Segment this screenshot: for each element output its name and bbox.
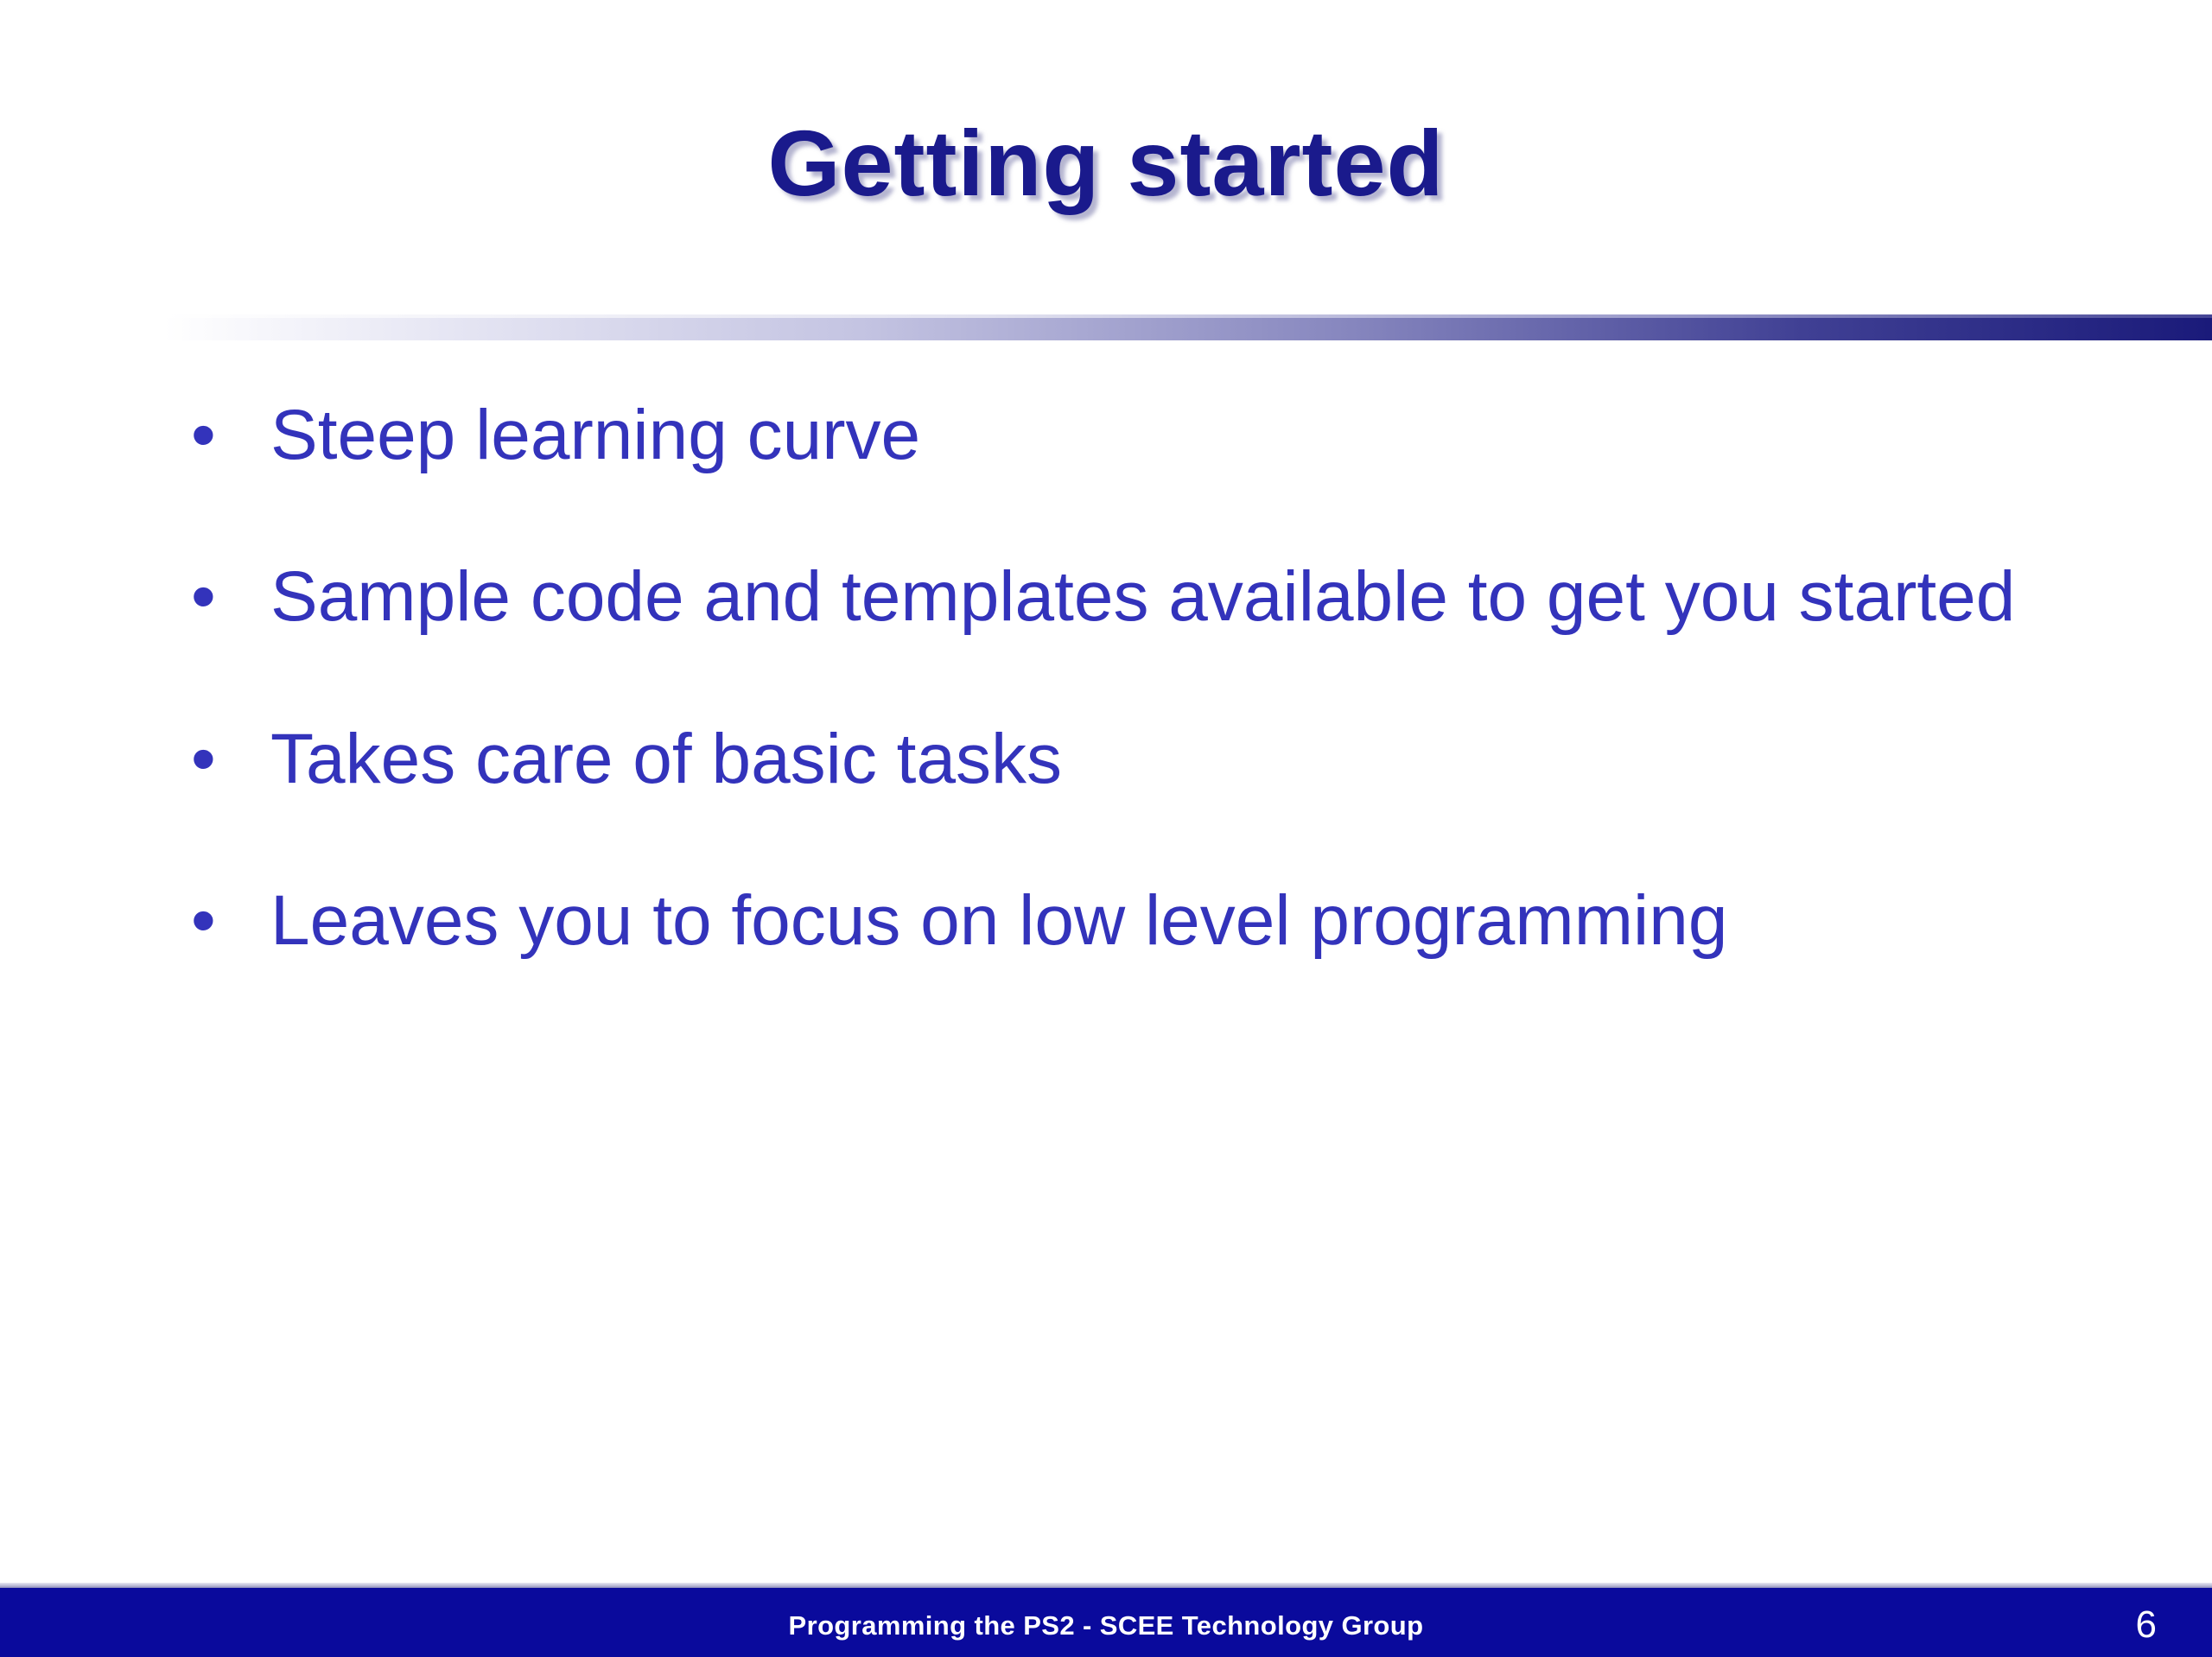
page-title: Getting started bbox=[767, 112, 1444, 215]
bullet-point-icon: • bbox=[191, 876, 226, 965]
list-item-label: Takes care of basic tasks bbox=[270, 714, 2061, 803]
list-item-label: Leaves you to focus on low level program… bbox=[270, 876, 2061, 965]
footer-label: Programming the PS2 - SCEE Technology Gr… bbox=[0, 1610, 2212, 1641]
presentation-slide: Getting started • Steep learning curve •… bbox=[0, 0, 2212, 1657]
list-item: • Steep learning curve bbox=[177, 390, 2061, 479]
list-item-label: Steep learning curve bbox=[270, 390, 2061, 479]
page-number: 6 bbox=[2136, 1603, 2157, 1647]
list-item: • Sample code and templates available to… bbox=[177, 552, 2061, 641]
bullet-point-icon: • bbox=[191, 552, 226, 641]
list-item: • Leaves you to focus on low level progr… bbox=[177, 876, 2061, 965]
list-item-label: Sample code and templates available to g… bbox=[270, 552, 2061, 641]
title-area: Getting started bbox=[0, 112, 2212, 215]
list-item: • Takes care of basic tasks bbox=[177, 714, 2061, 803]
title-divider-bar bbox=[164, 318, 2212, 340]
bullet-point-icon: • bbox=[191, 714, 226, 803]
bullet-list: • Steep learning curve • Sample code and… bbox=[177, 390, 2061, 965]
bullet-point-icon: • bbox=[191, 390, 226, 479]
